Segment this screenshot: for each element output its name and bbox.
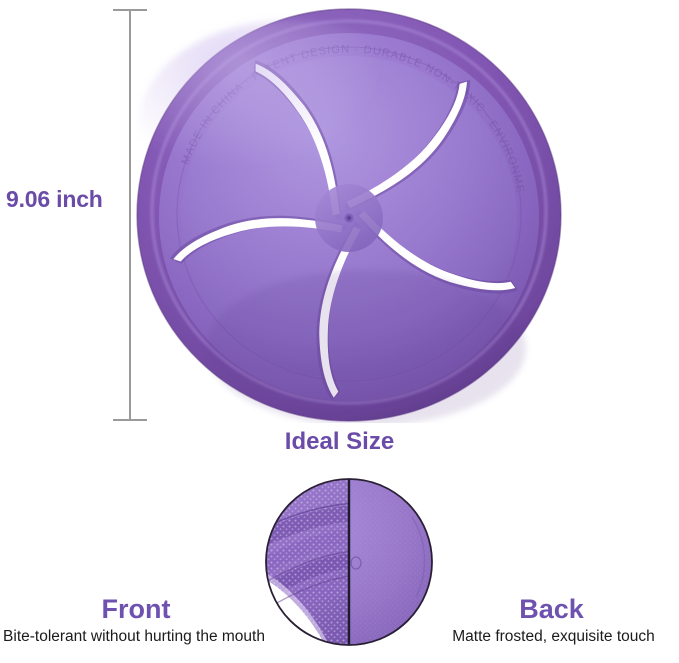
detail-view-split-circle xyxy=(264,477,434,647)
caption-back: Back Matte frosted, exquisite touch xyxy=(424,596,679,645)
caption-front-title: Front xyxy=(0,596,272,623)
caption-back-title: Back xyxy=(424,596,679,623)
caption-front-subtitle: Bite-tolerant without hurting the mouth xyxy=(0,628,272,645)
caption-front: Front Bite-tolerant without hurting the … xyxy=(0,596,272,645)
dimension-label: 9.06 inch xyxy=(6,186,124,213)
product-infographic: 9.06 inch xyxy=(0,0,679,663)
product-image-flying-disc: MADE IN CHINA · PATENT DESIGN · DURABLE … xyxy=(136,8,562,423)
caption-back-subtitle: Matte frosted, exquisite touch xyxy=(424,628,679,645)
vertical-dimension-line-icon xyxy=(129,9,131,421)
ideal-size-caption: Ideal Size xyxy=(0,428,679,456)
